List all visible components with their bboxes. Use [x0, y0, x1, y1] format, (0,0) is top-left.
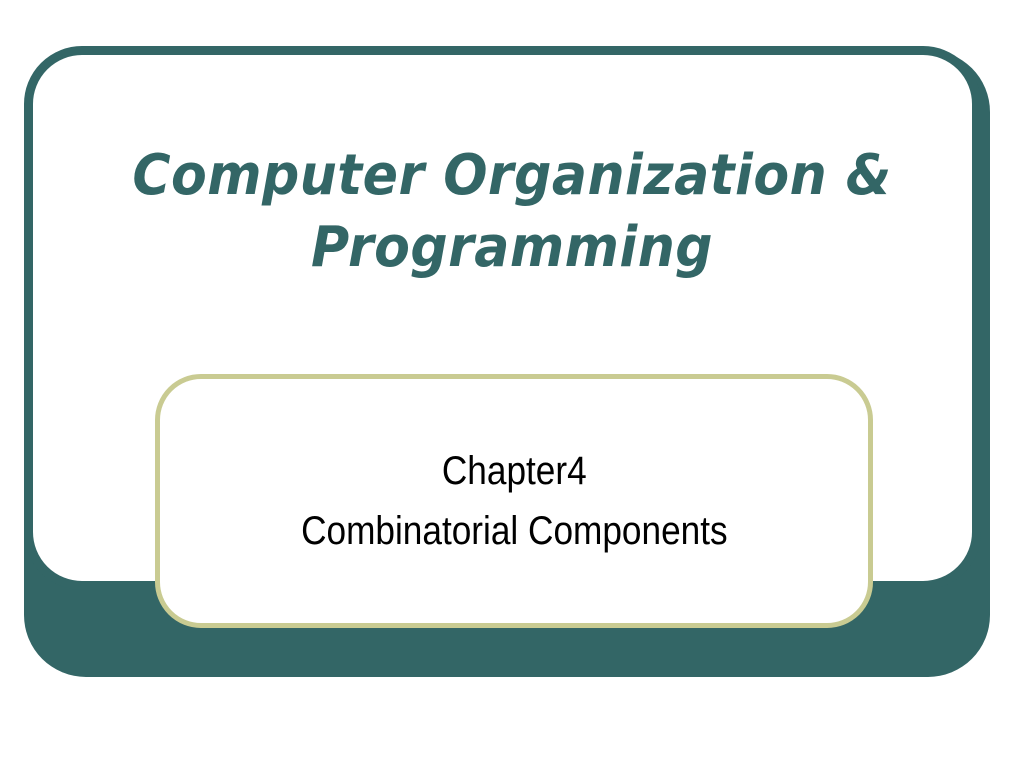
- presentation-slide: Computer Organization & Programming Chap…: [0, 0, 1024, 768]
- subtitle-line-topic: Combinatorial Components: [301, 501, 728, 561]
- subtitle-line-chapter: Chapter4: [442, 441, 587, 501]
- page-title: Computer Organization & Programming: [101, 140, 923, 283]
- subtitle-box: Chapter4 Combinatorial Components: [155, 374, 873, 628]
